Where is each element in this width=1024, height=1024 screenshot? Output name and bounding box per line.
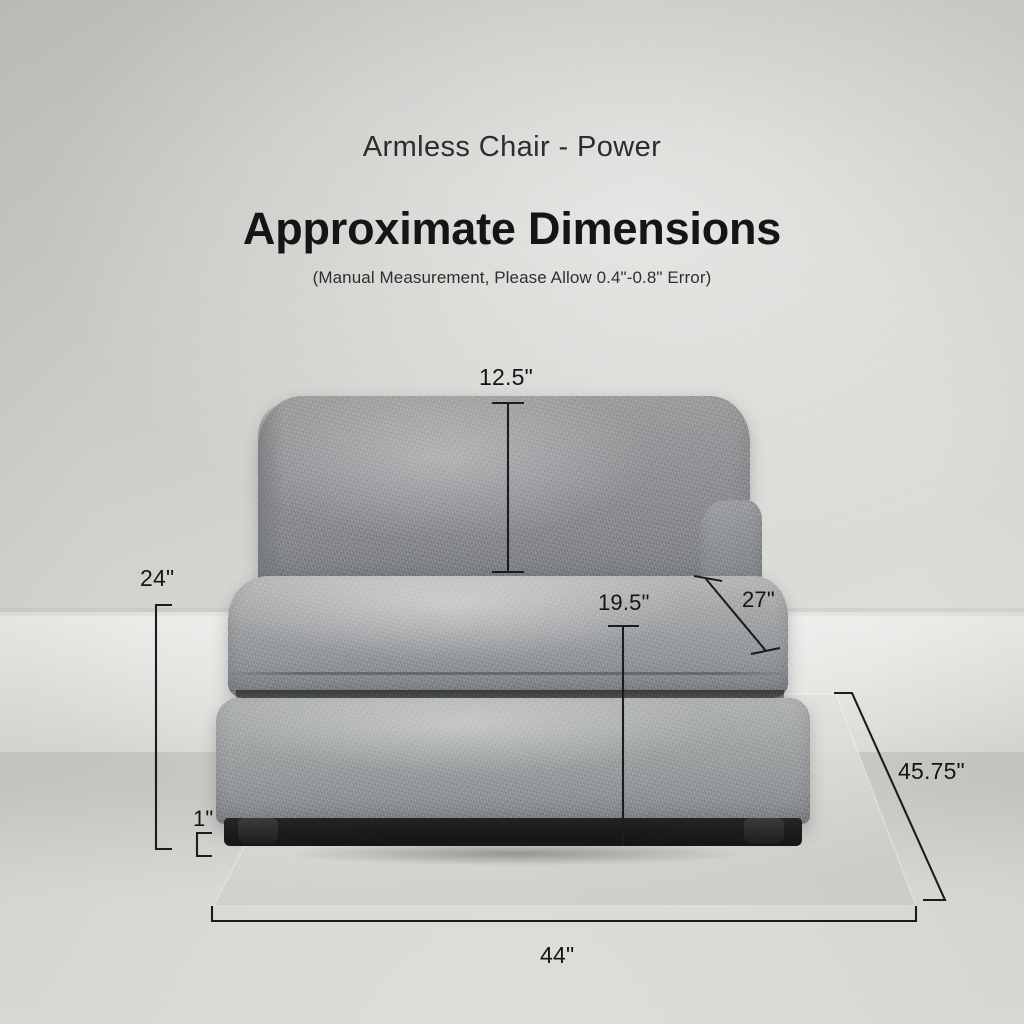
dimension-bracket-leg-height	[197, 833, 212, 856]
dimension-label-overall-width: 44"	[540, 942, 574, 969]
dimension-label-seat-height: 19.5"	[598, 590, 650, 616]
page-title: Approximate Dimensions	[0, 203, 1024, 255]
dimension-label-overall-depth: 45.75"	[898, 758, 965, 785]
dimension-line-seat-height	[608, 626, 639, 845]
product-dimension-diagram: Armless Chair - Power Approximate Dimens…	[0, 0, 1024, 1024]
dimension-bracket-overall-width	[212, 906, 916, 921]
dimension-label-backrest-height: 12.5"	[479, 364, 533, 391]
measurement-note: (Manual Measurement, Please Allow 0.4"-0…	[0, 268, 1024, 288]
dimension-bracket-overall-height	[156, 605, 172, 849]
dimension-line-overall-depth	[834, 693, 945, 900]
dimension-label-overall-height: 24"	[140, 565, 174, 592]
dimension-label-seat-depth: 27"	[742, 587, 775, 613]
dimension-label-leg-height: 1"	[193, 806, 213, 832]
product-name: Armless Chair - Power	[0, 131, 1024, 164]
dimension-line-backrest-height	[492, 403, 524, 572]
